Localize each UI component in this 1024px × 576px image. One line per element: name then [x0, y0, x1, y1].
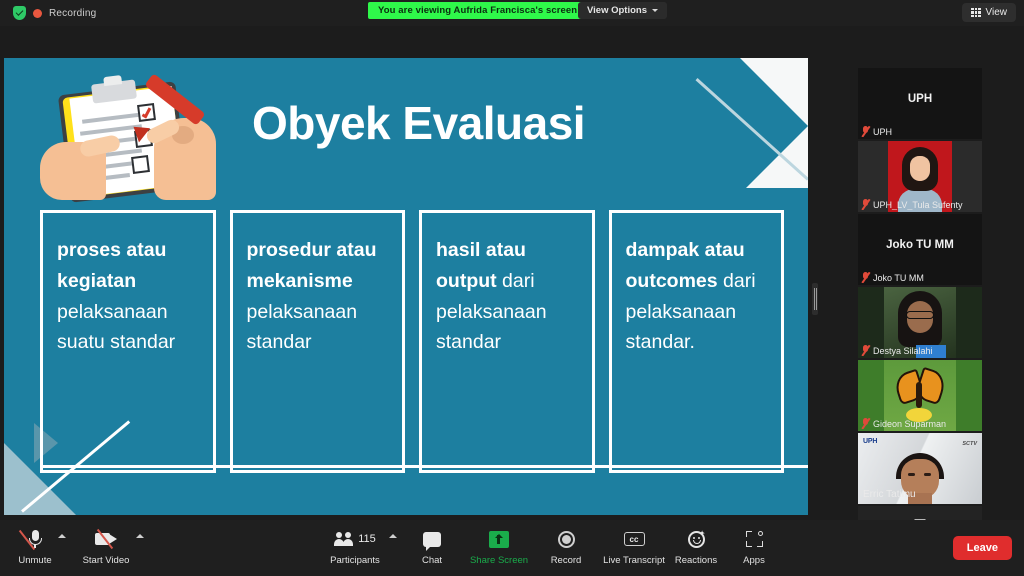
participant-tile-joko[interactable]: Joko TU MM Joko TU MM [858, 214, 982, 285]
secondary-logo-icon: SCTV [962, 441, 977, 447]
view-layout-button[interactable]: View [962, 3, 1016, 22]
grid-icon [971, 8, 980, 17]
unmute-button[interactable]: Unmute [10, 528, 60, 566]
panel-drag-handle[interactable] [812, 283, 818, 315]
share-screen-icon [489, 528, 509, 550]
meeting-toolbar: Unmute Start Video 115 Participants Chat… [0, 520, 1024, 576]
slide-box-1: proses atau kegiatan pelaksanaan suatu s… [40, 210, 216, 473]
participant-name-row: Gideon Suparman [861, 418, 946, 429]
chat-button[interactable]: Chat [410, 528, 454, 566]
slide-box-2-text: pelaksanaan standar [247, 301, 358, 354]
slide-box-3-mid: dari [497, 270, 535, 292]
participant-tile-uph[interactable]: UPH UPH [858, 68, 982, 139]
participant-name-row: Destya Silalahi [861, 345, 933, 356]
participant-name-row: UPH [861, 126, 892, 137]
recording-indicator-group: Recording [13, 6, 96, 20]
leave-button[interactable]: Leave [953, 536, 1012, 560]
participant-tile-erric-active-speaker[interactable]: UPH SCTV Erric Tatimu [858, 433, 982, 504]
reactions-button[interactable]: ✦ Reactions [668, 528, 724, 566]
participant-name: Joko TU MM [873, 273, 924, 283]
record-circle-icon [558, 528, 575, 550]
live-transcript-button[interactable]: cc Live Transcript [596, 528, 672, 566]
zoom-meeting-window: Recording You are viewing Aufrida Franci… [0, 0, 1024, 576]
participants-count: 115 [358, 533, 376, 545]
record-button[interactable]: Record [542, 528, 590, 566]
uph-logo-icon: UPH [863, 438, 877, 445]
participants-label: Participants [330, 555, 380, 566]
slide-title: Obyek Evaluasi [252, 96, 585, 150]
camera-off-icon [95, 528, 117, 550]
live-transcript-label: Live Transcript [603, 555, 665, 566]
participants-icon: 115 [334, 528, 376, 550]
recording-label: Recording [49, 8, 96, 19]
participants-options-caret-icon[interactable] [389, 534, 397, 538]
unmute-label: Unmute [18, 555, 51, 566]
reactions-label: Reactions [675, 555, 717, 566]
participants-button[interactable]: 115 Participants [325, 528, 385, 566]
apps-label: Apps [743, 555, 765, 566]
participant-name-row: Erric Tatimu [863, 489, 916, 500]
participant-tile-destya[interactable]: Destya Silalahi [858, 287, 982, 358]
record-label: Record [551, 555, 582, 566]
share-screen-label: Share Screen [470, 555, 528, 566]
participant-tile-tula[interactable]: UPH_LV_Tula Sufenty [858, 141, 982, 212]
shared-screen-slide[interactable]: Obyek Evaluasi proses atau kegiatan pela… [4, 58, 808, 515]
share-screen-button[interactable]: Share Screen [462, 528, 536, 566]
microphone-muted-icon [861, 199, 869, 210]
reactions-smiley-icon: ✦ [688, 528, 705, 550]
microphone-muted-icon [861, 418, 869, 429]
slide-box-3: hasil atau output dari pelaksanaan stand… [419, 210, 595, 473]
participant-name: Gideon Suparman [873, 419, 946, 429]
slide-corner-triangle-bottom [746, 126, 808, 188]
chat-bubble-icon [423, 528, 441, 550]
view-options-label: View Options [587, 5, 647, 16]
cc-label: cc [624, 532, 645, 546]
participant-tile-gideon[interactable]: Gideon Suparman [858, 360, 982, 431]
chat-label: Chat [422, 555, 442, 566]
slide-boxes-container: proses atau kegiatan pelaksanaan suatu s… [40, 210, 784, 473]
encryption-shield-icon[interactable] [13, 6, 26, 20]
apps-icon [746, 528, 763, 550]
recording-dot-icon[interactable] [33, 9, 42, 18]
start-video-label: Start Video [83, 555, 130, 566]
microphone-muted-icon [861, 126, 869, 137]
participant-name: Erric Tatimu [863, 489, 916, 500]
viewing-screen-banner: You are viewing Aufrida Francisca's scre… [368, 2, 587, 19]
slide-box-1-text: pelaksanaan suatu standar [57, 301, 175, 354]
slide-box-2-bold: prosedur atau mekanisme [247, 239, 377, 292]
participant-name-row: Joko TU MM [861, 272, 924, 283]
slide-box-3-text: pelaksanaan standar [436, 301, 547, 354]
clipboard-checklist-icon [34, 80, 219, 200]
participant-video-strip[interactable]: UPH UPH UPH_LV_Tula Sufenty Joko TU MM J… [858, 68, 982, 538]
slide-box-2: prosedur atau mekanisme pelaksanaan stan… [230, 210, 406, 473]
participant-name: UPH [873, 127, 892, 137]
microphone-muted-icon [28, 528, 43, 550]
top-bar: Recording You are viewing Aufrida Franci… [0, 0, 1024, 26]
video-options-caret-icon[interactable] [136, 534, 144, 538]
slide-box-1-bold: proses atau kegiatan [57, 239, 166, 292]
microphone-muted-icon [861, 345, 869, 356]
start-video-button[interactable]: Start Video [76, 528, 136, 566]
microphone-muted-icon [861, 272, 869, 283]
slide-box-4: dampak atau outcomes dari pelaksanaan st… [609, 210, 785, 473]
view-options-button[interactable]: View Options [578, 2, 667, 19]
slide-corner-triangle-top [740, 58, 808, 126]
audio-options-caret-icon[interactable] [58, 534, 66, 538]
participant-name: Destya Silalahi [873, 346, 933, 356]
apps-button[interactable]: Apps [733, 528, 775, 566]
view-button-label: View [986, 7, 1008, 18]
closed-caption-icon: cc [624, 528, 645, 550]
participant-name: UPH_LV_Tula Sufenty [873, 200, 963, 210]
participant-name-row: UPH_LV_Tula Sufenty [861, 199, 963, 210]
chevron-down-icon [652, 9, 658, 12]
